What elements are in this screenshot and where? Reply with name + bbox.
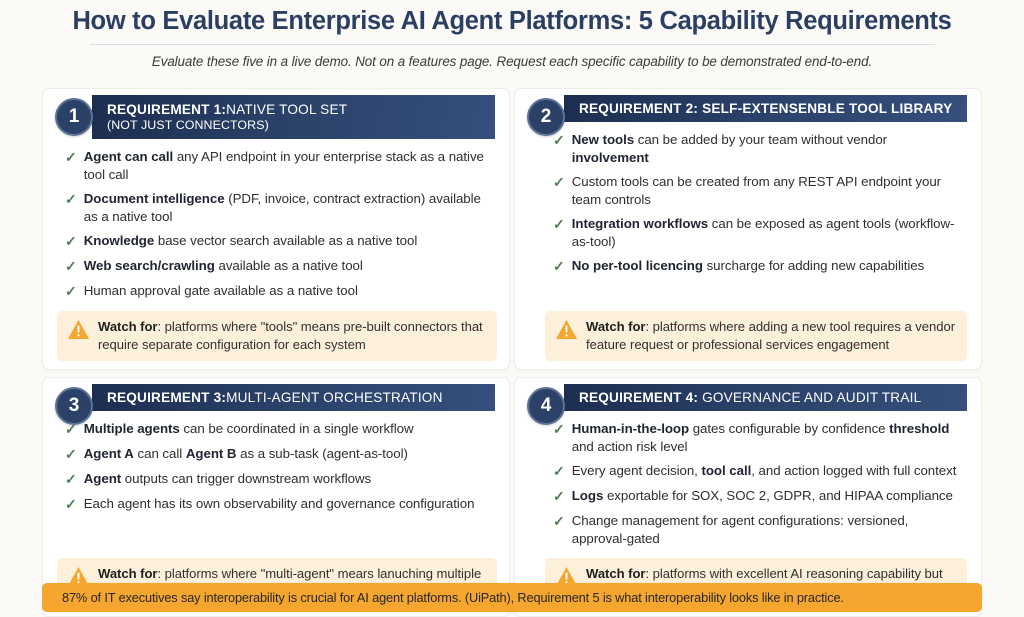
list-item: ✓ Document intelligence (PDF, invoice, c… xyxy=(65,190,491,226)
list-item: ✓ Human-in-the-loop gates configurable b… xyxy=(553,420,957,456)
requirement-title-rest-4: GOVERNANCE AND AUDIT TRAIL xyxy=(698,390,921,405)
requirement-number-badge-3: 3 xyxy=(55,387,93,425)
watch-for-label: Watch for xyxy=(98,319,157,334)
check-icon: ✓ xyxy=(65,190,77,209)
list-item: ✓ Change management for agent configurat… xyxy=(553,512,957,548)
requirement-title-3: REQUIREMENT 3:MULTI-AGENT ORCHESTRATION xyxy=(107,390,483,405)
check-icon: ✓ xyxy=(65,282,77,301)
bullet-text: Integration workflows can be exposed as … xyxy=(572,215,957,251)
check-icon: ✓ xyxy=(553,215,565,234)
check-icon: ✓ xyxy=(65,445,77,464)
check-icon: ✓ xyxy=(65,495,77,514)
bullet-text: Agent can call any API endpoint in your … xyxy=(84,148,491,184)
warning-triangle-icon xyxy=(555,319,578,340)
requirement-title-bold-2: REQUIREMENT 2: xyxy=(579,101,698,116)
bullet-text: Logs exportable for SOX, SOC 2, GDPR, an… xyxy=(572,487,953,505)
requirement-bullets-4: ✓ Human-in-the-loop gates configurable b… xyxy=(515,411,981,554)
list-item: ✓ Web search/crawling available as a nat… xyxy=(65,257,491,276)
check-icon: ✓ xyxy=(553,420,565,439)
requirement-title-4: REQUIREMENT 4: GOVERNANCE AND AUDIT TRAI… xyxy=(579,390,955,405)
check-icon: ✓ xyxy=(553,462,565,481)
bullet-text: Every agent decision, tool call, and act… xyxy=(572,462,957,480)
check-icon: ✓ xyxy=(65,470,77,489)
requirement-header-1: REQUIREMENT 1:NATIVE TOOL SET (NOT JUST … xyxy=(92,95,495,139)
watch-for-text-1: Watch for: platforms where "tools" means… xyxy=(98,318,487,353)
requirement-card-4: 4 REQUIREMENT 4: GOVERNANCE AND AUDIT TR… xyxy=(514,377,982,617)
check-icon: ✓ xyxy=(553,173,565,192)
requirement-number-badge-4: 4 xyxy=(527,387,565,425)
requirement-title-rest-3: MULTI-AGENT ORCHESTRATION xyxy=(226,390,442,405)
check-icon: ✓ xyxy=(553,487,565,506)
bullet-text: New tools can be added by your team with… xyxy=(572,131,957,167)
requirement-card-1: 1 REQUIREMENT 1:NATIVE TOOL SET (NOT JUS… xyxy=(42,88,510,370)
bullet-text: Multiple agents can be coordinated in a … xyxy=(84,420,414,438)
requirement-title-bold-3: REQUIREMENT 3: xyxy=(107,390,226,405)
check-icon: ✓ xyxy=(65,257,77,276)
check-icon: ✓ xyxy=(65,232,77,251)
requirement-title-1: REQUIREMENT 1:NATIVE TOOL SET xyxy=(107,102,483,117)
requirement-header-4: REQUIREMENT 4: GOVERNANCE AND AUDIT TRAI… xyxy=(564,384,967,411)
watch-for-label: Watch for xyxy=(98,566,157,581)
requirement-title-bold-4: REQUIREMENT 4: xyxy=(579,390,698,405)
footer-stat-banner: 87% of IT executives say interoperabilit… xyxy=(42,583,982,612)
footer-text: 87% of IT executives say interoperabilit… xyxy=(62,590,844,605)
requirement-title-rest-2: SELF-EXTENSENBLE TOOL LIBRARY xyxy=(698,101,952,116)
list-item: ✓ Human approval gate available as a nat… xyxy=(65,282,491,301)
bullet-text: Web search/crawling available as a nativ… xyxy=(84,257,363,275)
watch-for-box-2: Watch for: platforms where adding a new … xyxy=(545,311,967,361)
requirement-card-2: 2 REQUIREMENT 2: SELF-EXTENSENBLE TOOL L… xyxy=(514,88,982,370)
requirement-header-3: REQUIREMENT 3:MULTI-AGENT ORCHESTRATION xyxy=(92,384,495,411)
title-divider xyxy=(90,44,935,45)
watch-for-box-1: Watch for: platforms where "tools" means… xyxy=(57,311,497,361)
watch-for-label: Watch for xyxy=(586,319,645,334)
bullet-text: Human-in-the-loop gates configurable by … xyxy=(572,420,957,456)
requirement-number-badge-2: 2 xyxy=(527,98,565,136)
bullet-text: Custom tools can be created from any RES… xyxy=(572,173,957,209)
list-item: ✓ Each agent has its own observability a… xyxy=(65,495,491,514)
list-item: ✓ Custom tools can be created from any R… xyxy=(553,173,957,209)
list-item: ✓ Every agent decision, tool call, and a… xyxy=(553,462,957,481)
requirement-header-2: REQUIREMENT 2: SELF-EXTENSENBLE TOOL LIB… xyxy=(564,95,967,122)
bullet-text: Agent A can call Agent B as a sub-task (… xyxy=(84,445,408,463)
list-item: ✓ Logs exportable for SOX, SOC 2, GDPR, … xyxy=(553,487,957,506)
requirement-subtitle-1: (NOT JUST CONNECTORS) xyxy=(107,118,483,132)
list-item: ✓ Agent outputs can trigger downstream w… xyxy=(65,470,491,489)
bullet-text: Document intelligence (PDF, invoice, con… xyxy=(84,190,491,226)
requirement-title-rest-1: NATIVE TOOL SET xyxy=(226,102,347,117)
warning-triangle-icon xyxy=(67,319,90,340)
bullet-text: Agent outputs can trigger downstream wor… xyxy=(84,470,371,488)
list-item: ✓ New tools can be added by your team wi… xyxy=(553,131,957,167)
requirement-bullets-2: ✓ New tools can be added by your team wi… xyxy=(515,122,981,307)
list-item: ✓ Integration workflows can be exposed a… xyxy=(553,215,957,251)
bullet-text: Each agent has its own observability and… xyxy=(84,495,475,513)
requirement-title-bold-1: REQUIREMENT 1: xyxy=(107,102,226,117)
list-item: ✓ Agent can call any API endpoint in you… xyxy=(65,148,491,184)
bullet-text: Knowledge base vector search available a… xyxy=(84,232,418,250)
requirements-grid: 1 REQUIREMENT 1:NATIVE TOOL SET (NOT JUS… xyxy=(42,88,982,617)
watch-for-label: Watch for xyxy=(586,566,645,581)
bullet-text: Change management for agent configuratio… xyxy=(572,512,957,548)
requirement-card-3: 3 REQUIREMENT 3:MULTI-AGENT ORCHESTRATIO… xyxy=(42,377,510,617)
list-item: ✓ Agent A can call Agent B as a sub-task… xyxy=(65,445,491,464)
list-item: ✓ Knowledge base vector search available… xyxy=(65,232,491,251)
check-icon: ✓ xyxy=(65,148,77,167)
requirement-bullets-1: ✓ Agent can call any API endpoint in you… xyxy=(43,139,509,307)
list-item: ✓ Multiple agents can be coordinated in … xyxy=(65,420,491,439)
page-subtitle: Evaluate these five in a live demo. Not … xyxy=(60,54,964,69)
watch-for-text-2: Watch for: platforms where adding a new … xyxy=(586,318,957,353)
requirement-number-badge-1: 1 xyxy=(55,98,93,136)
requirement-bullets-3: ✓ Multiple agents can be coordinated in … xyxy=(43,411,509,554)
check-icon: ✓ xyxy=(553,512,565,531)
page-title: How to Evaluate Enterprise AI Agent Plat… xyxy=(60,6,964,38)
infographic-header: How to Evaluate Enterprise AI Agent Plat… xyxy=(0,0,1024,69)
list-item: ✓ No per-tool licencing surcharge for ad… xyxy=(553,257,957,276)
check-icon: ✓ xyxy=(553,257,565,276)
requirement-title-2: REQUIREMENT 2: SELF-EXTENSENBLE TOOL LIB… xyxy=(579,101,955,116)
bullet-text: No per-tool licencing surcharge for addi… xyxy=(572,257,925,275)
bullet-text: Human approval gate available as a nativ… xyxy=(84,282,358,300)
